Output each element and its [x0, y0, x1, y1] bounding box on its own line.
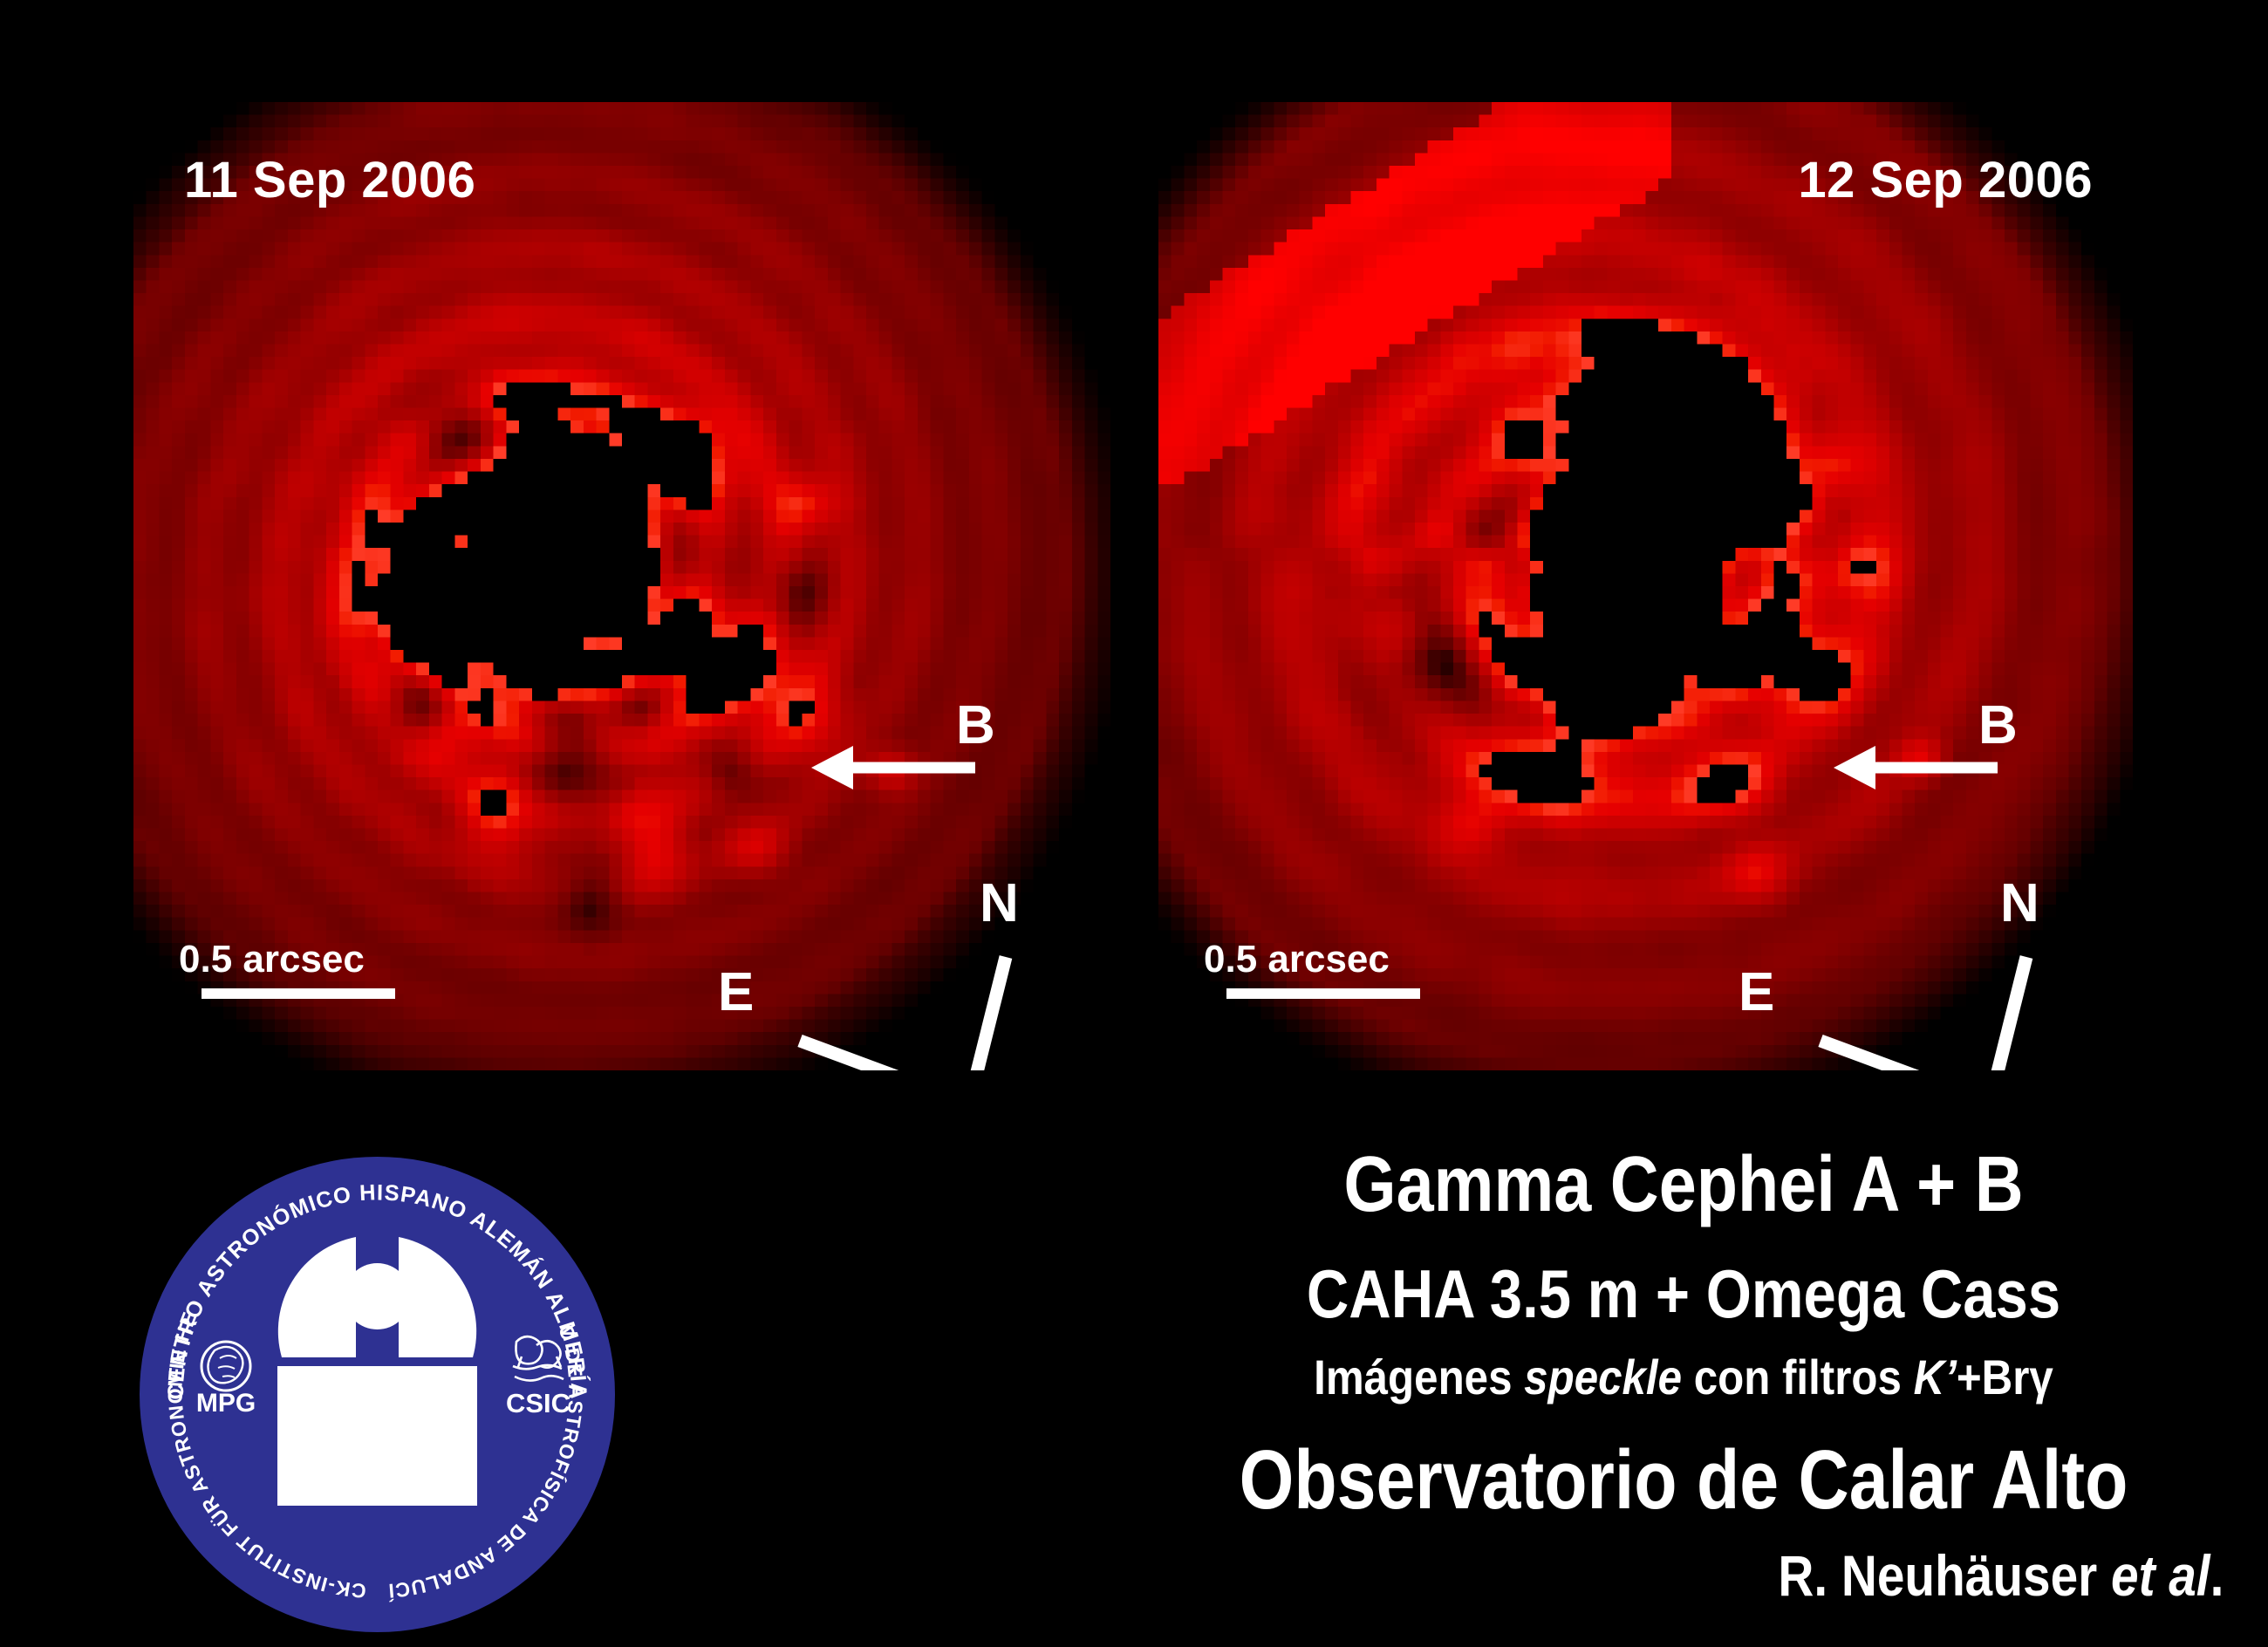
companion-b-label: B	[1978, 699, 2018, 753]
authors-prefix: R. Neuhäuser	[1778, 1543, 2111, 1608]
caha-observatory-logo: CENTRO ASTRONÓMICO HISPANO ALEMÁN ALMERÍ…	[140, 1157, 615, 1632]
instrument-line: CAHA 3.5 m + Omega Cass	[1204, 1259, 2164, 1329]
companion-b-label: B	[956, 699, 995, 753]
scale-bar-line	[202, 988, 395, 999]
filters-mid: con filtros	[1682, 1350, 1914, 1404]
date-label-panel-b: 12 Sep 2006	[1798, 151, 2093, 209]
compass-north-label: N	[2000, 877, 2039, 931]
compass-rose-panel-b: N E	[1730, 852, 2079, 1070]
date-label-panel-a: 11 Sep 2006	[184, 151, 475, 209]
scale-bar-panel-a: 0.5 arcsec	[179, 938, 395, 999]
poster-title: Gamma Cephei A + B	[1204, 1145, 2164, 1227]
csic-label: CSIC	[506, 1388, 570, 1418]
mpg-label: MPG	[196, 1389, 256, 1418]
scale-bar-label: 0.5 arcsec	[1204, 938, 1420, 981]
authors-line: R. Neuhäuser et al.	[1281, 1546, 2242, 1606]
filters-speckle-italic: speckle	[1524, 1350, 1682, 1404]
filters-suffix: +Brγ	[1957, 1350, 2053, 1404]
poster-root: 11 Sep 2006 0.5 arcsec B N E 12 Sep 2006	[0, 0, 2268, 1647]
observatory-line: Observatorio de Calar Alto	[1214, 1437, 2152, 1524]
compass-north-label: N	[980, 877, 1019, 931]
companion-b-marker-panel-a: B	[792, 713, 1019, 844]
scale-bar-panel-b: 0.5 arcsec	[1204, 938, 1420, 999]
companion-b-marker-panel-b: B	[1814, 713, 2041, 844]
authors-suffix: .	[2210, 1543, 2224, 1608]
filters-prefix: Imágenes	[1314, 1350, 1524, 1404]
authors-etal-italic: et al	[2111, 1543, 2210, 1608]
scale-bar-label: 0.5 arcsec	[179, 938, 395, 981]
speckle-image-panel-b: 12 Sep 2006 0.5 arcsec B N E	[1158, 102, 2133, 1070]
speckle-image-panel-a: 11 Sep 2006 0.5 arcsec B N E	[133, 102, 1110, 1070]
filters-kprime-italic: K’	[1914, 1350, 1957, 1404]
compass-east-label: E	[718, 966, 754, 1020]
filters-line: Imágenes speckle con filtros K’+Brγ	[1192, 1352, 2175, 1403]
compass-east-label: E	[1739, 966, 1774, 1020]
scale-bar-line	[1226, 988, 1420, 999]
compass-rose-panel-a: N E	[709, 852, 1058, 1070]
telescope-dome-icon	[277, 1237, 477, 1506]
